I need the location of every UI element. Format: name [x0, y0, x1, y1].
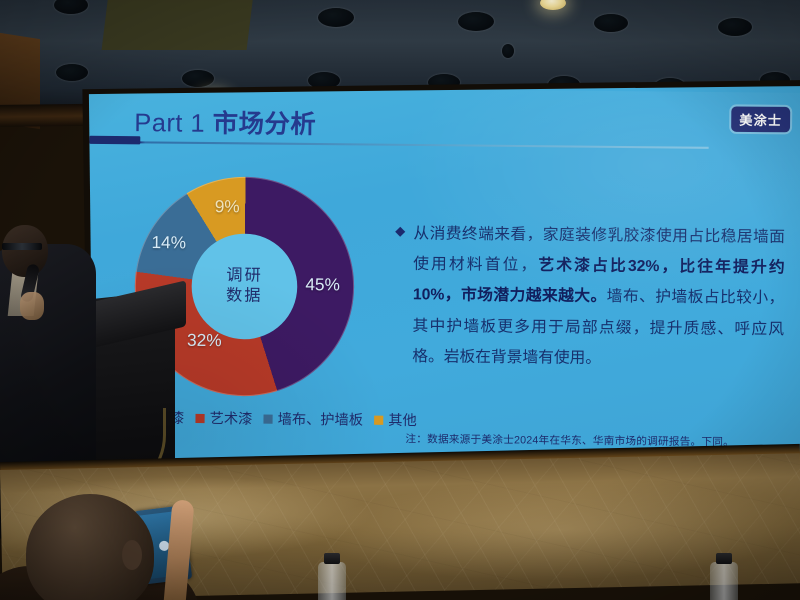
audience-ear — [122, 540, 142, 570]
legend-item-3: 其他 — [374, 410, 417, 431]
legend-swatch-icon — [374, 415, 383, 424]
slice-label-3: 9% — [215, 197, 240, 218]
downlight-on — [540, 0, 566, 10]
bottle-cap — [716, 553, 732, 564]
legend-item-2: 墙布、护墙板 — [263, 408, 363, 429]
downlight-off — [594, 14, 628, 32]
bottle-cap — [324, 553, 340, 564]
downlight-off — [56, 64, 88, 81]
slice-label-2: 14% — [151, 233, 186, 254]
downlight-off — [718, 18, 752, 36]
slice-label-1: 32% — [187, 331, 222, 352]
title-main-text: 市场分析 — [213, 110, 317, 139]
slide-canvas: Part 1 市场分析 美涂士 调研 数据 45% 32% 14% 9% — [86, 86, 800, 490]
water-bottle — [318, 562, 346, 600]
legend-label: 墙布、护墙板 — [278, 409, 363, 430]
legend-swatch-icon — [263, 414, 272, 423]
water-bottle — [710, 562, 738, 600]
projection-screen: Part 1 市场分析 美涂士 调研 数据 45% 32% 14% 9% — [86, 86, 800, 490]
title-underline-accent — [90, 136, 141, 145]
ceiling-panel — [102, 0, 254, 50]
brand-logo-text: 美涂士 — [739, 110, 782, 130]
legend-label: 艺术漆 — [210, 408, 253, 429]
conference-photo-scene: Part 1 市场分析 美涂士 调研 数据 45% 32% 14% 9% — [0, 0, 800, 600]
body-paragraph: 从消费终端来看，家庭装修乳胶漆使用占比稳居墙面使用材料首位，艺术漆占比32%，比… — [412, 219, 785, 376]
legend-item-1: 艺术漆 — [195, 408, 252, 429]
brand-logo: 美涂士 — [731, 106, 790, 132]
downlight-off — [458, 12, 494, 31]
downlight-off — [54, 0, 88, 14]
downlight-off — [318, 8, 354, 27]
legend-swatch-icon — [195, 413, 204, 422]
center-label-line-2: 数据 — [226, 286, 263, 307]
speaker-head — [2, 225, 48, 277]
downlight-off — [182, 70, 214, 87]
center-label-line-1: 调研 — [226, 266, 263, 287]
ceiling-sensor — [502, 44, 514, 58]
title-part-number: Part 1 — [134, 109, 205, 138]
speaker-hand — [20, 292, 44, 320]
legend-label: 其他 — [388, 410, 417, 431]
body-text-block: ◆ 从消费终端来看，家庭装修乳胶漆使用占比稳居墙面使用材料首位，艺术漆占比32%… — [394, 219, 785, 376]
title-underline — [90, 141, 709, 149]
page-title: Part 1 市场分析 — [134, 103, 316, 141]
speaker-glasses — [2, 243, 42, 250]
slice-label-0: 45% — [305, 275, 340, 296]
donut-center-label: 调研 数据 — [191, 233, 298, 340]
diamond-bullet-icon: ◆ — [395, 223, 405, 239]
